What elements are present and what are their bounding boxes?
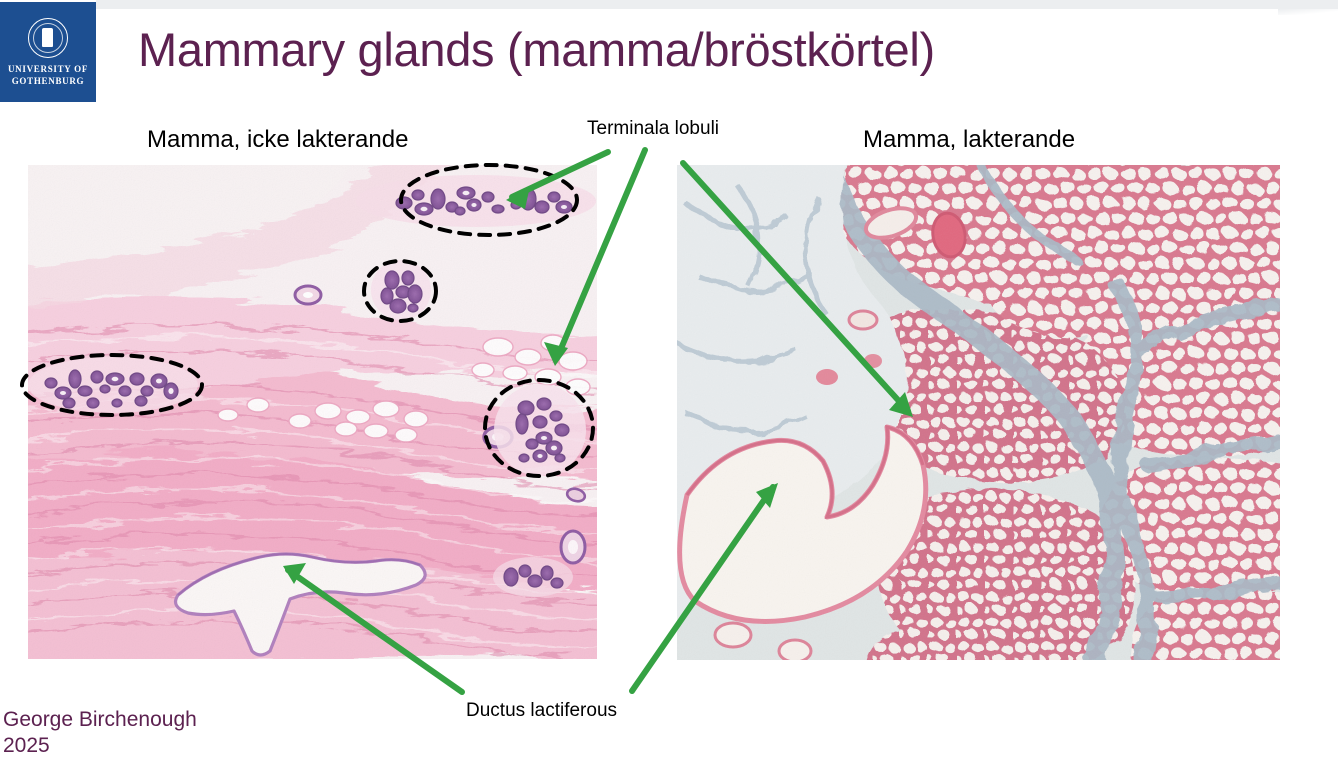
author-year: 2025 <box>3 733 197 759</box>
university-seal-icon <box>28 18 68 58</box>
right-histology-image <box>677 165 1280 660</box>
top-decorative-strip <box>96 0 1338 9</box>
logo-line-2: GOTHENBURG <box>8 75 88 87</box>
author-name: George Birchenough <box>3 707 197 733</box>
left-histology-image <box>28 165 597 659</box>
slide-title: Mammary glands (mamma/bröstkörtel) <box>138 22 935 77</box>
left-histology-render <box>28 165 597 659</box>
label-ductus-lactiferous: Ductus lactiferous <box>466 700 617 722</box>
right-histology-render <box>677 165 1280 660</box>
university-logo: UNIVERSITY OF GOTHENBURG <box>0 2 96 102</box>
caption-right-panel: Mamma, lakterande <box>863 126 1075 154</box>
author-block: George Birchenough 2025 <box>3 707 197 759</box>
logo-line-1: UNIVERSITY OF <box>8 63 88 75</box>
caption-left-panel: Mamma, icke lakterande <box>147 126 408 154</box>
label-terminala-lobuli: Terminala lobuli <box>587 118 719 140</box>
slide-canvas: UNIVERSITY OF GOTHENBURG Mammary glands … <box>0 0 1338 770</box>
